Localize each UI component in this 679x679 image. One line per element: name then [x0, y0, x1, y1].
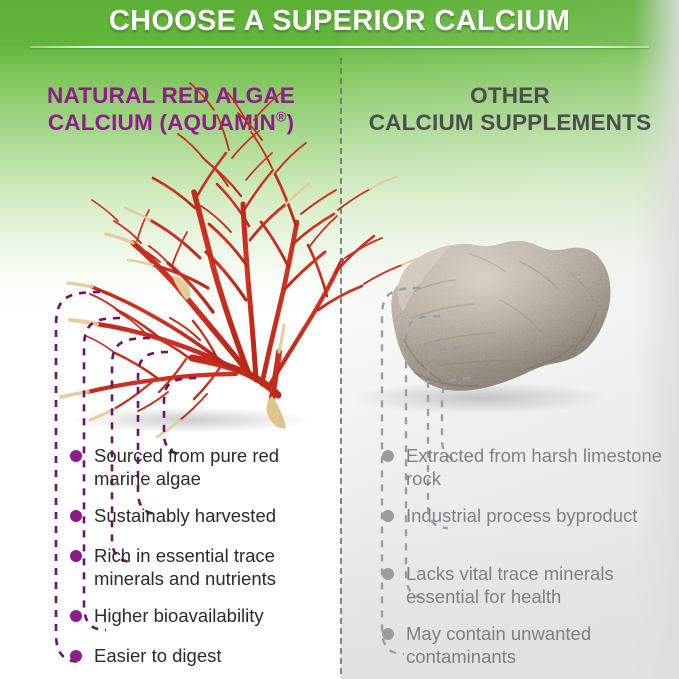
list-item-label: Sustainably harvested [94, 504, 276, 527]
bullet-dot-icon [382, 510, 394, 522]
list-item: Easier to digest [70, 644, 336, 667]
bullet-dot-icon [382, 450, 394, 462]
bullet-dot-icon [70, 650, 82, 662]
list-item-label: Sourced from pure red marine algae [94, 444, 336, 490]
list-item-label: May contain unwanted contaminants [406, 622, 670, 668]
list-item: Lacks vital trace minerals essential for… [382, 562, 670, 608]
bullet-dot-icon [70, 510, 82, 522]
bullet-dot-icon [382, 628, 394, 640]
list-item: Higher bioavailability [70, 604, 336, 627]
bullet-dot-icon [70, 610, 82, 622]
list-item-label: Easier to digest [94, 644, 222, 667]
list-item-label: Higher bioavailability [94, 604, 264, 627]
bullet-dot-icon [70, 450, 82, 462]
infographic-root: CHOOSE A SUPERIOR CALCIUM NATURAL RED AL… [0, 0, 679, 679]
list-item-label: Industrial process byproduct [406, 504, 637, 527]
list-item: Industrial process byproduct [382, 504, 670, 527]
list-item-label: Rich in essential trace minerals and nut… [94, 544, 336, 590]
list-item-label: Lacks vital trace minerals essential for… [406, 562, 670, 608]
list-item: Sustainably harvested [70, 504, 336, 527]
bullet-dot-icon [382, 568, 394, 580]
list-item-label: Extracted from harsh limestone rock [406, 444, 670, 490]
list-item: Extracted from harsh limestone rock [382, 444, 670, 490]
center-divider [340, 58, 342, 674]
bullet-dot-icon [70, 550, 82, 562]
list-item: May contain unwanted contaminants [382, 622, 670, 668]
list-item: Sourced from pure red marine algae [70, 444, 336, 490]
list-item: Rich in essential trace minerals and nut… [70, 544, 336, 590]
